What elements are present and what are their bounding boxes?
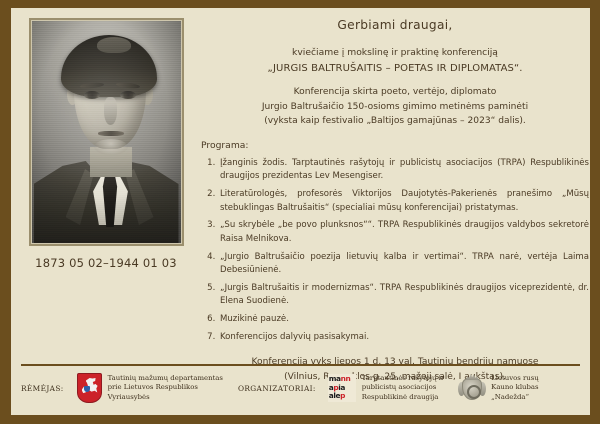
dedication-block: Konferencija skirta poeto, vertėjo, dipl… [201,86,589,129]
program-label: Programa: [201,139,589,153]
organizer-entry-trpa: mann apia alep Tarptautinės rašytojų ir … [328,374,444,402]
nadezhda-crest-icon [459,373,485,403]
invitation-block: kviečiame į mokslinę ir praktinę konfere… [201,46,589,76]
program-item: „Jurgio Baltrušaičio poezija lietuvių ka… [218,251,589,278]
program-item: Konferencijos dalyvių pasisakymai. [218,331,589,344]
organizer-trpa-name: Tarptautinės rašytojų ir publicistų asoc… [362,374,444,402]
program-list: Įžanginis žodis. Tarptautinės rašytojų i… [201,157,589,344]
trpa-logo-line-3: alep [329,392,355,401]
supporter-name-line-3: Vyriausybės [108,393,223,402]
dedication-line-1: Konferencija skirta poeto, vertėjo, dipl… [201,86,589,100]
supporter-name-line-2: prie Lietuvos Respublikos [108,383,223,392]
organizer-nadezhda-line-3: „Nadežda“ [491,393,539,402]
dedication-line-3: (vyksta kaip festivalio „Baltijos gamajū… [201,115,589,129]
organizer-nadezhda-line-1: Lietuvos rusų [491,374,539,383]
program-item: Įžanginis žodis. Tarptautinės rašytojų i… [218,157,589,184]
conference-poster: 1873 05 02–1944 01 03 Gerbiami draugai, … [0,0,600,424]
organizer-nadezhda-name: Lietuvos rusų Kauno klubas „Nadežda“ [491,374,539,402]
program-item: Literatūrologės, profesorės Viktorijos D… [218,188,589,215]
program-item: „Su skrybėle „be povo plunksnos““. TRPA … [218,219,589,246]
poster-sheet: 1873 05 02–1944 01 03 Gerbiami draugai, … [11,8,590,415]
portrait-block: 1873 05 02–1944 01 03 [20,18,192,270]
supporter-entry: Tautinių mažumų departamentas prie Lietu… [77,373,223,403]
supporter-name: Tautinių mažumų departamentas prie Lietu… [108,374,223,402]
organizer-entry-nadezhda: Lietuvos rusų Kauno klubas „Nadežda“ [459,373,539,403]
portrait-caption: 1873 05 02–1944 01 03 [20,256,192,270]
sponsors-footer: RĖMĖJAS: Tautinių mažumų departamentas p… [21,367,582,409]
program-item: Muzikinė pauzė. [218,313,589,326]
vytis-coat-of-arms-icon [77,373,102,403]
organizer-trpa-line-3: Respublikinė draugija [362,393,444,402]
poster-content: Gerbiami draugai, kviečiame į mokslinę i… [201,16,589,385]
portrait-frame [29,18,184,246]
portrait-photo [32,21,181,243]
program-item: „Jurgis Baltrušaitis ir modernizmas“. TR… [218,282,589,309]
invitation-line-1: kviečiame į mokslinę ir praktinę konfere… [201,46,589,60]
footer-divider [21,364,580,366]
organizer-trpa-line-1: Tarptautinės rašytojų ir [362,374,444,383]
organizer-nadezhda-line-2: Kauno klubas [491,383,539,392]
dedication-line-2: Jurgio Baltrušaičio 150-osioms gimimo me… [201,101,589,115]
invitation-line-2: „JURGIS BALTRUŠAITIS – POETAS IR DIPLOMA… [201,61,589,76]
salutation: Gerbiami draugai, [201,16,589,35]
supporter-name-line-1: Tautinių mažumų departamentas [108,374,223,383]
organizers-label: ORGANIZATORIAI: [238,384,316,393]
trpa-mapia-logo-icon: mann apia alep [328,374,356,402]
organizer-trpa-line-2: publicistų asociacijos [362,383,444,392]
supporter-label: RĖMĖJAS: [21,384,64,393]
